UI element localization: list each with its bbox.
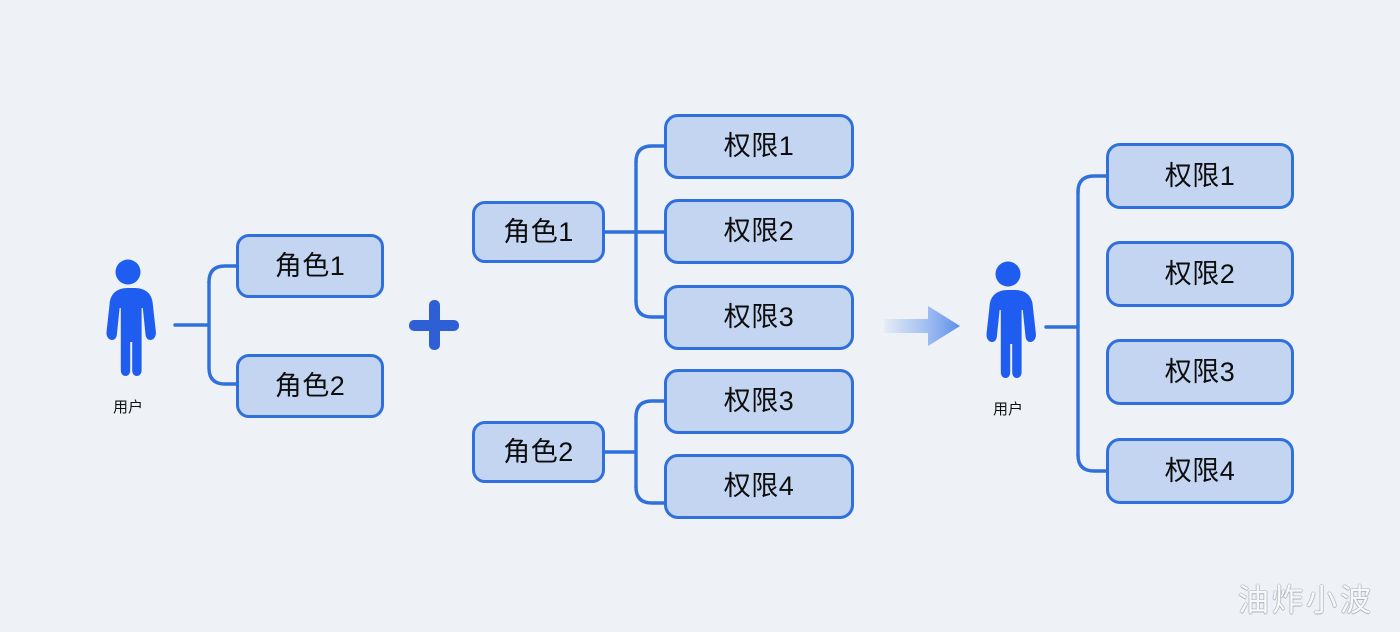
wire-role1-to-perm1 [636, 146, 664, 162]
wire-result-to-perm1 [1078, 176, 1106, 192]
middle-permission-node-2-2-label: 权限4 [724, 473, 795, 500]
wire-user-to-role1 [209, 266, 236, 282]
result-person-icon [980, 260, 1036, 385]
middle-permission-node-2-1[interactable]: 权限3 [664, 369, 854, 434]
middle-permission-node-1-3[interactable]: 权限3 [664, 285, 854, 350]
person-icon [100, 258, 156, 383]
middle-role-node-1[interactable]: 角色1 [472, 201, 605, 263]
plus-icon [409, 300, 459, 350]
result-person-label: 用户 [960, 398, 1056, 419]
role-node-2-label: 角色2 [275, 373, 346, 400]
result-permission-node-1-label: 权限1 [1165, 163, 1236, 190]
result-permission-node-3-label: 权限3 [1165, 359, 1236, 386]
wire-result-to-perm4 [1078, 455, 1106, 471]
middle-permission-node-1-1-label: 权限1 [724, 133, 795, 160]
result-permission-node-3[interactable]: 权限3 [1106, 339, 1294, 405]
diagram-canvas: 用户 角色1 角色2 角色1 权限1 权限2 权限3 角色2 权限3 权限4 [0, 0, 1400, 632]
role-node-2[interactable]: 角色2 [236, 354, 384, 418]
middle-permission-node-2-2[interactable]: 权限4 [664, 454, 854, 519]
result-permission-node-2-label: 权限2 [1165, 261, 1236, 288]
result-permission-node-4-label: 权限4 [1165, 458, 1236, 485]
wire-role1-to-perm3 [636, 301, 664, 317]
wire-user-to-role2 [209, 368, 236, 384]
result-permission-node-4[interactable]: 权限4 [1106, 438, 1294, 504]
middle-permission-node-1-2-label: 权限2 [724, 218, 795, 245]
middle-role-node-2-label: 角色2 [503, 439, 574, 466]
role-node-1[interactable]: 角色1 [236, 234, 384, 298]
middle-role-node-1-label: 角色1 [503, 219, 574, 246]
middle-role-node-2[interactable]: 角色2 [472, 421, 605, 483]
wire-role2-to-perm4 [636, 487, 664, 503]
result-permission-node-1[interactable]: 权限1 [1106, 143, 1294, 209]
middle-permission-node-1-3-label: 权限3 [724, 304, 795, 331]
person-label: 用户 [80, 396, 176, 417]
arrow-right-icon [884, 303, 962, 349]
middle-permission-node-2-1-label: 权限3 [724, 388, 795, 415]
result-permission-node-2[interactable]: 权限2 [1106, 241, 1294, 307]
middle-permission-node-1-2[interactable]: 权限2 [664, 199, 854, 264]
middle-permission-node-1-1[interactable]: 权限1 [664, 114, 854, 179]
wire-role2-to-perm3 [636, 401, 664, 417]
watermark: 油炸小波 [1238, 575, 1374, 620]
role-node-1-label: 角色1 [275, 253, 346, 280]
plus-icon-vertical [429, 300, 440, 350]
